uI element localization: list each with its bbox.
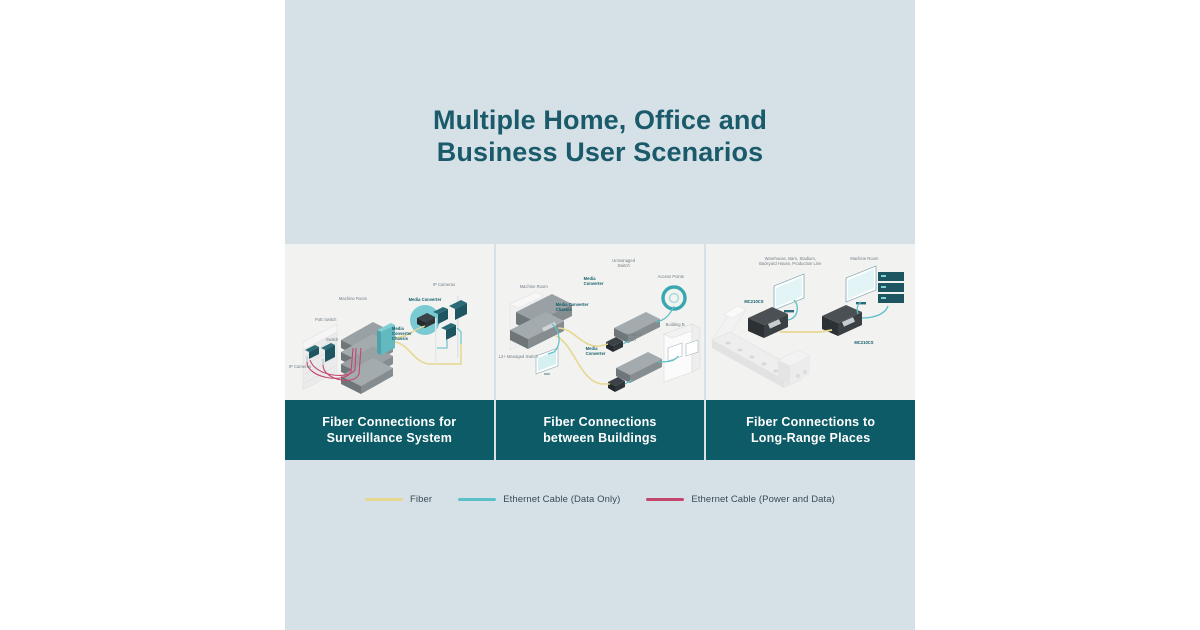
label-media-converter-chassis: Media Converter Chassis [556, 302, 589, 312]
label-places: Warehouse, Barn, Stadium, Backyard House… [759, 256, 821, 266]
scenario-card-long-range[interactable]: Warehouse, Barn, Stadium, Backyard House… [704, 244, 915, 460]
scenario-card-buildings[interactable]: Machine Room Media Converter Chassis L2+… [494, 244, 705, 460]
label-poe-switch: PoE Switch [315, 317, 336, 322]
diagram-buildings: Machine Room Media Converter Chassis L2+… [496, 244, 705, 400]
diagram-surveillance: Machine Room PoE Switch Switch IP Camera… [285, 244, 494, 400]
diagram-long-range: Warehouse, Barn, Stadium, Backyard House… [706, 244, 915, 400]
label-machine-room: Machine Room [520, 284, 548, 289]
scenario-card-surveillance[interactable]: Machine Room PoE Switch Switch IP Camera… [285, 244, 494, 460]
card-caption-surveillance: Fiber Connections for Surveillance Syste… [285, 400, 494, 460]
legend-label-ethernet-power-data: Ethernet Cable (Power and Data) [691, 494, 835, 505]
label-unmanaged-switch-bottom: Unmanaged Switch [618, 332, 641, 342]
line-swatch-icon [365, 498, 403, 501]
legend-item-ethernet-power-data: Ethernet Cable (Power and Data) [646, 494, 835, 505]
label-building-b: Building B [666, 322, 685, 327]
label-ip-cameras-right: IP Cameras [433, 282, 455, 287]
label-access-points: Access Points [658, 274, 684, 279]
label-machine-room: Machine Room [339, 296, 367, 301]
page-title-line-2: Business User Scenarios [285, 136, 915, 168]
long-range-illustration [706, 244, 915, 400]
line-swatch-icon [458, 498, 496, 501]
legend-label-fiber: Fiber [410, 494, 432, 505]
page-title: Multiple Home, Office and Business User … [285, 104, 915, 168]
label-device-right: MC210CS [854, 340, 873, 345]
label-unmanaged-switch-top: Unmanaged Switch [612, 258, 635, 268]
label-l2-managed-switch: L2+ Managed Switch [499, 354, 538, 359]
label-switch: Switch [326, 337, 338, 342]
legend: Fiber Ethernet Cable (Data Only) Etherne… [285, 494, 915, 505]
label-device-left: MC210CS [744, 299, 763, 304]
scenario-cards: Machine Room PoE Switch Switch IP Camera… [285, 244, 915, 460]
label-media-converter-top: Media Converter [584, 276, 604, 286]
poster-canvas: Multiple Home, Office and Business User … [0, 0, 1200, 630]
line-swatch-icon [646, 498, 684, 501]
label-ip-cameras-left: IP Cameras [289, 364, 311, 369]
card-caption-buildings: Fiber Connections between Buildings [496, 400, 705, 460]
legend-label-ethernet-data: Ethernet Cable (Data Only) [503, 494, 620, 505]
legend-item-ethernet-data: Ethernet Cable (Data Only) [458, 494, 620, 505]
label-media-converter: Media Converter [409, 297, 442, 302]
label-media-converter-bottom: Media Converter [586, 346, 606, 356]
legend-item-fiber: Fiber [365, 494, 432, 505]
card-caption-long-range: Fiber Connections to Long-Range Places [706, 400, 915, 460]
page-title-line-1: Multiple Home, Office and [285, 104, 915, 136]
label-machine-room: Machine Room [850, 256, 878, 261]
label-media-converter-chassis: Media Converter Chassis [392, 326, 412, 342]
